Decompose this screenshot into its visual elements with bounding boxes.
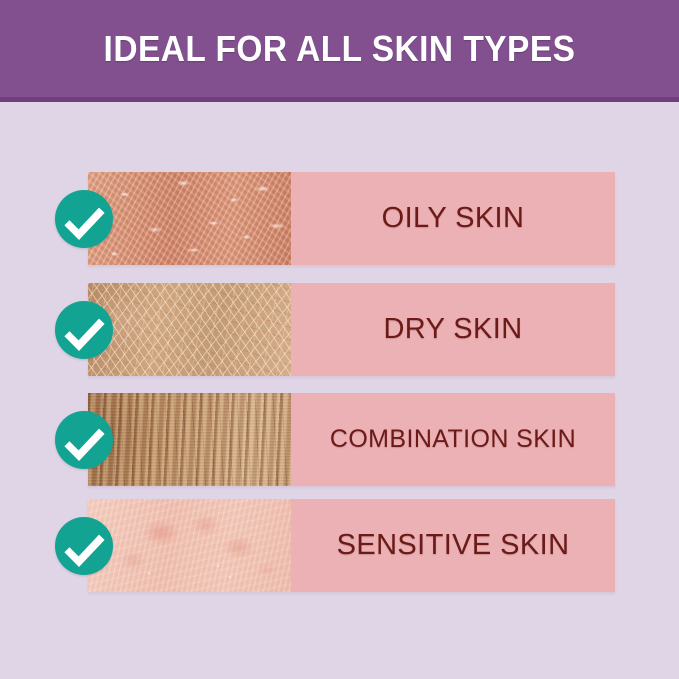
oily-skin-texture-image [88,172,291,265]
list-item: DRY SKIN [55,283,615,376]
header-banner-underline [0,97,679,102]
dry-skin-texture [88,283,291,376]
skin-type-label: OILY SKIN [291,172,615,265]
combination-skin-texture [88,393,291,486]
sensitive-skin-texture-image [88,499,291,592]
skin-types-infographic: IDEAL FOR ALL SKIN TYPES OILY SKIN DRY S… [0,0,679,679]
check-badge [55,411,113,469]
page-title: IDEAL FOR ALL SKIN TYPES [24,0,655,97]
combination-skin-texture-image [88,393,291,486]
list-item: COMBINATION SKIN [55,393,615,486]
check-mark-icon [55,517,113,575]
skin-type-label: SENSITIVE SKIN [291,499,615,592]
check-badge [55,190,113,248]
oily-skin-texture [88,172,291,265]
check-badge [55,301,113,359]
check-mark-icon [55,411,113,469]
check-mark-icon [55,301,113,359]
check-mark-icon [55,190,113,248]
dry-skin-texture-image [88,283,291,376]
skin-type-label: DRY SKIN [291,283,615,376]
skin-type-label: COMBINATION SKIN [291,393,615,486]
list-item: SENSITIVE SKIN [55,499,615,592]
sensitive-skin-texture [88,499,291,592]
list-item: OILY SKIN [55,172,615,265]
check-badge [55,517,113,575]
